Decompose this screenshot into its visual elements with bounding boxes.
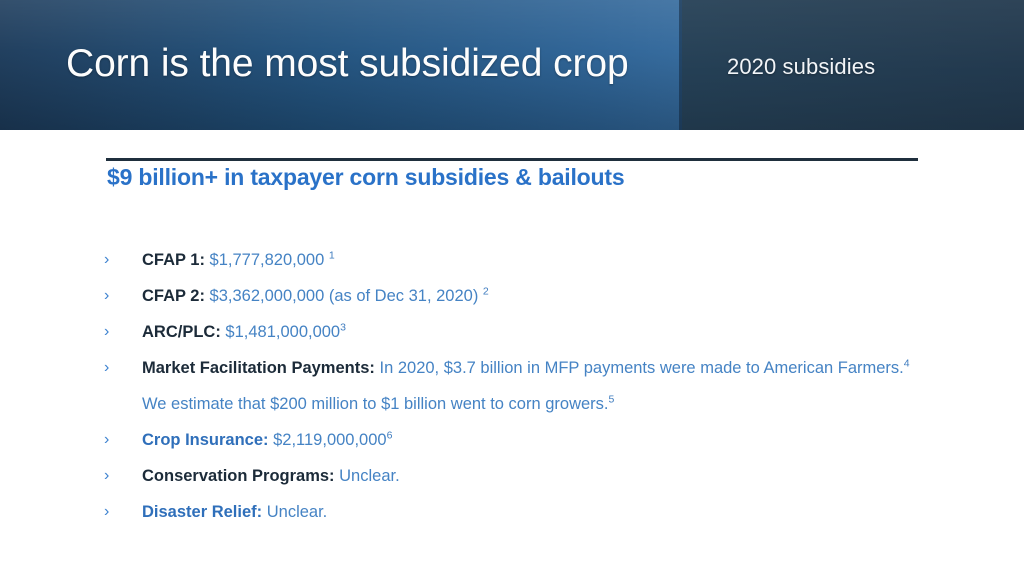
section-heading: $9 billion+ in taxpayer corn subsidies &… — [107, 164, 624, 191]
chevron-right-icon: › — [104, 242, 122, 278]
section-divider-rule — [106, 158, 918, 161]
bullet-item: ›Crop Insurance: $2,119,000,0006 — [0, 422, 1024, 458]
bullet-item-text: Crop Insurance: $2,119,000,0006 — [142, 422, 932, 458]
slide-header-banner: Corn is the most subsidized crop 2020 su… — [0, 0, 1024, 130]
bullet-item-text: Conservation Programs: Unclear. — [142, 458, 932, 494]
chevron-right-icon: › — [104, 422, 122, 458]
bullet-item: ›CFAP 1: $1,777,820,000 1 — [0, 242, 1024, 278]
chevron-right-icon: › — [104, 278, 122, 314]
bullet-item-value: $3,362,000,000 (as of Dec 31, 2020) — [205, 287, 483, 305]
header-eyebrow-label: 2020 subsidies — [727, 54, 875, 80]
bullet-item-label: Conservation Programs: — [142, 467, 335, 485]
bullet-item-label: CFAP 2: — [142, 287, 205, 305]
chevron-right-icon: › — [104, 350, 122, 386]
slide: Corn is the most subsidized crop 2020 su… — [0, 0, 1024, 576]
footnote-marker: 3 — [340, 322, 346, 334]
bullet-item: ›Market Facilitation Payments: In 2020, … — [0, 350, 1024, 422]
bullet-item: ›CFAP 2: $3,362,000,000 (as of Dec 31, 2… — [0, 278, 1024, 314]
bullet-list: ›CFAP 1: $1,777,820,000 1›CFAP 2: $3,362… — [0, 242, 1024, 530]
bullet-item-label: Market Facilitation Payments: — [142, 359, 375, 377]
footnote-marker: 4 — [904, 358, 910, 370]
bullet-item-value: $1,481,000,000 — [221, 323, 340, 341]
bullet-item-label: ARC/PLC: — [142, 323, 221, 341]
bullet-item-label: CFAP 1: — [142, 251, 205, 269]
bullet-item-value: $1,777,820,000 — [205, 251, 329, 269]
page-title: Corn is the most subsidized crop — [66, 42, 629, 86]
footnote-marker: 1 — [329, 250, 335, 262]
bullet-item: ›Conservation Programs: Unclear. — [0, 458, 1024, 494]
bullet-item-value: Unclear. — [262, 503, 327, 521]
bullet-item-text: CFAP 1: $1,777,820,000 1 — [142, 242, 932, 278]
bullet-item-label: Disaster Relief: — [142, 503, 262, 521]
bullet-item-label: Crop Insurance: — [142, 431, 269, 449]
bullet-item-text: ARC/PLC: $1,481,000,0003 — [142, 314, 932, 350]
bullet-item-value: In 2020, $3.7 billion in MFP payments we… — [375, 359, 904, 377]
slide-content: $9 billion+ in taxpayer corn subsidies &… — [0, 130, 1024, 576]
footnote-marker: 2 — [483, 286, 489, 298]
footnote-marker: 6 — [387, 430, 393, 442]
chevron-right-icon: › — [104, 494, 122, 530]
chevron-right-icon: › — [104, 314, 122, 350]
bullet-item: ›Disaster Relief: Unclear. — [0, 494, 1024, 530]
bullet-item-text: CFAP 2: $3,362,000,000 (as of Dec 31, 20… — [142, 278, 932, 314]
bullet-item-value-continued: We estimate that $200 million to $1 bill… — [142, 395, 609, 413]
bullet-item-text: Market Facilitation Payments: In 2020, $… — [142, 350, 932, 422]
bullet-item-value: Unclear. — [335, 467, 400, 485]
chevron-right-icon: › — [104, 458, 122, 494]
bullet-item-value: $2,119,000,000 — [269, 431, 387, 449]
footnote-marker: 5 — [609, 394, 615, 406]
bullet-item-text: Disaster Relief: Unclear. — [142, 494, 932, 530]
bullet-item: ›ARC/PLC: $1,481,000,0003 — [0, 314, 1024, 350]
